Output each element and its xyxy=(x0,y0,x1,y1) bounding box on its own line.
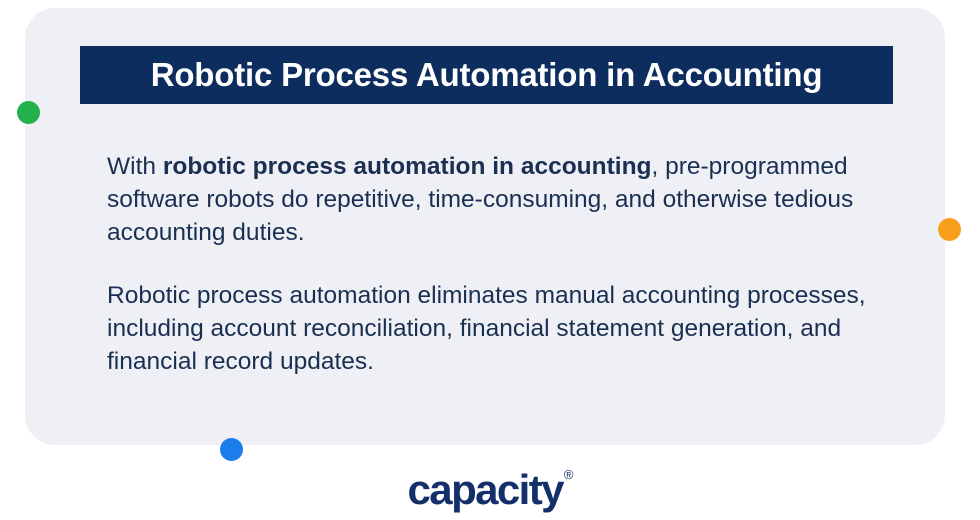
brand-logo: capacity® xyxy=(0,466,980,514)
logo-text: capacity xyxy=(408,466,563,513)
paragraph-1-bold-phrase: robotic process automation in accounting xyxy=(163,153,652,180)
paragraph-1: With robotic process automation in accou… xyxy=(107,150,937,249)
page-title: Robotic Process Automation in Accounting xyxy=(151,56,823,94)
blue-dot xyxy=(220,438,243,461)
orange-dot xyxy=(938,218,961,241)
title-banner: Robotic Process Automation in Accounting xyxy=(80,46,893,104)
paragraph-2: Robotic process automation eliminates ma… xyxy=(107,279,937,378)
paragraph-2-lead: Robotic process automation eliminates ma… xyxy=(107,282,866,375)
paragraph-1-lead: With xyxy=(107,153,163,180)
logo-wordmark: capacity® xyxy=(408,466,573,514)
body-copy: With robotic process automation in accou… xyxy=(107,150,937,378)
infographic-canvas: Robotic Process Automation in Accounting… xyxy=(0,0,980,520)
green-dot xyxy=(17,101,40,124)
registered-trademark-icon: ® xyxy=(564,467,574,482)
